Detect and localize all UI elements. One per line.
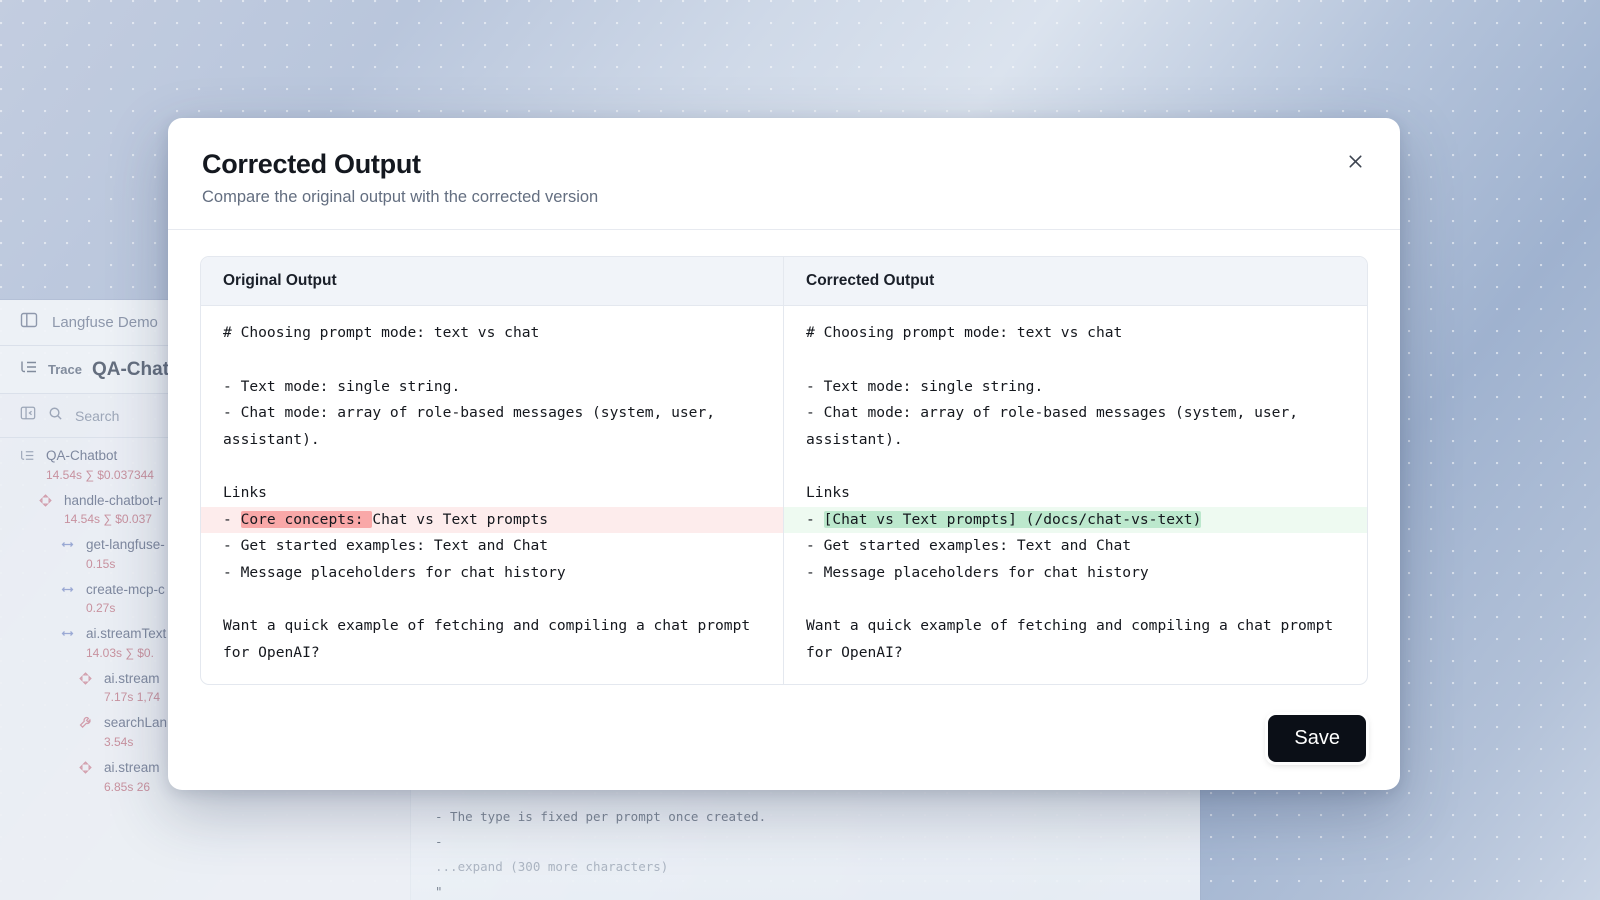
diff-line-blank — [201, 586, 783, 613]
tree-node-label: handle-chatbot-r — [64, 493, 162, 508]
tree-node-label: QA-Chatbot — [46, 448, 117, 463]
close-icon — [1346, 152, 1365, 171]
diff-line: - Message placeholders for chat history — [201, 560, 783, 587]
bg-output-preview: - The type is fixed per prompt once crea… — [410, 785, 1200, 900]
generation-icon — [78, 671, 94, 687]
diff-prefix: - — [806, 511, 824, 528]
tree-node-meta: 14.54s ∑ $0.037 — [64, 512, 152, 526]
event-icon — [60, 582, 76, 598]
tree-node-label: searchLan — [104, 715, 167, 730]
table-row: # Choosing prompt mode: text vs chat - T… — [201, 306, 1367, 684]
span-icon — [38, 493, 54, 509]
bg-code-line: - — [435, 829, 1176, 854]
trace-list-icon — [20, 358, 38, 381]
column-header-corrected: Corrected Output — [784, 257, 1367, 306]
tree-node-meta: 6.85s 26 — [104, 780, 150, 794]
bg-search-placeholder: Search — [75, 408, 119, 424]
desktop-background: Langfuse Demo Trace QA-Chatbot — [0, 0, 1600, 900]
diff-line: - Chat mode: array of role-based message… — [784, 400, 1367, 453]
original-output-cell: # Choosing prompt mode: text vs chat - T… — [201, 306, 784, 684]
table-header-row: Original Output Corrected Output — [201, 257, 1367, 306]
diff-line: - Get started examples: Text and Chat — [784, 533, 1367, 560]
dialog-footer: Save — [168, 693, 1400, 790]
diff-line: # Choosing prompt mode: text vs chat — [201, 320, 783, 347]
diff-line: - Message placeholders for chat history — [784, 560, 1367, 587]
diff-line-removed: - Core concepts: Chat vs Text prompts — [201, 507, 783, 534]
generation-icon — [78, 760, 94, 776]
diff-line-blank — [201, 453, 783, 480]
bg-code-line: - The type is fixed per prompt once crea… — [435, 804, 1176, 829]
diff-line-blank — [784, 586, 1367, 613]
diff-line: - Text mode: single string. — [201, 374, 783, 401]
panel-collapse-icon[interactable] — [20, 405, 36, 426]
tree-node-meta: 7.17s 1,74 — [104, 690, 160, 704]
corrected-output-dialog: Corrected Output Compare the original ou… — [168, 118, 1400, 790]
bg-app-name: Langfuse Demo — [52, 314, 158, 331]
column-header-original: Original Output — [201, 257, 784, 306]
tree-node-meta: 14.54s ∑ $0.037344 — [46, 468, 154, 482]
save-button[interactable]: Save — [1268, 715, 1366, 762]
diff-suffix: Chat vs Text prompts — [372, 511, 548, 528]
page-title: Corrected Output — [202, 148, 1366, 180]
diff-line: Links — [784, 480, 1367, 507]
diff-line: Want a quick example of fetching and com… — [201, 613, 783, 666]
diff-line: - Text mode: single string. — [784, 374, 1367, 401]
tree-node-meta: 0.27s — [86, 601, 115, 615]
diff-removed-highlight: Core concepts: — [241, 511, 373, 528]
panel-left-icon[interactable] — [20, 311, 38, 334]
dialog-header: Corrected Output Compare the original ou… — [168, 118, 1400, 230]
event-icon — [60, 537, 76, 553]
diff-line: - Get started examples: Text and Chat — [201, 533, 783, 560]
diff-added-highlight: [Chat vs Text prompts] (/docs/chat-vs-te… — [824, 511, 1202, 528]
tree-node-label: ai.streamText — [86, 626, 166, 641]
dialog-subtitle: Compare the original output with the cor… — [202, 188, 1366, 207]
bg-expand-link[interactable]: ...expand (300 more characters) — [435, 854, 1176, 879]
diff-line-blank — [784, 453, 1367, 480]
diff-line: Links — [201, 480, 783, 507]
dialog-body: Original Output Corrected Output # Choos… — [168, 230, 1400, 693]
diff-prefix: - — [223, 511, 241, 528]
tree-node-label: ai.stream — [104, 760, 160, 775]
trace-icon — [20, 448, 36, 464]
tree-node-meta: 3.54s — [104, 735, 133, 749]
corrected-code-pane: # Choosing prompt mode: text vs chat - T… — [784, 306, 1367, 684]
diff-line-blank — [784, 347, 1367, 374]
diff-line-added: - [Chat vs Text prompts] (/docs/chat-vs-… — [784, 507, 1367, 534]
tree-node-meta: 0.15s — [86, 557, 115, 571]
bg-code-line: " — [435, 879, 1176, 900]
diff-line-blank — [201, 347, 783, 374]
bg-trace-label: Trace — [48, 362, 82, 377]
search-icon — [48, 406, 63, 426]
diff-line: # Choosing prompt mode: text vs chat — [784, 320, 1367, 347]
tool-icon — [78, 715, 94, 731]
diff-line: Want a quick example of fetching and com… — [784, 613, 1367, 666]
diff-table: Original Output Corrected Output # Choos… — [200, 256, 1368, 685]
close-button[interactable] — [1340, 146, 1370, 176]
corrected-output-cell: # Choosing prompt mode: text vs chat - T… — [784, 306, 1367, 684]
diff-line: - Chat mode: array of role-based message… — [201, 400, 783, 453]
event-icon — [60, 626, 76, 642]
tree-node-label: create-mcp-c — [86, 582, 165, 597]
original-code-pane: # Choosing prompt mode: text vs chat - T… — [201, 306, 783, 684]
tree-node-label: get-langfuse- — [86, 537, 165, 552]
tree-node-meta: 14.03s ∑ $0. — [86, 646, 154, 660]
tree-node-label: ai.stream — [104, 671, 160, 686]
